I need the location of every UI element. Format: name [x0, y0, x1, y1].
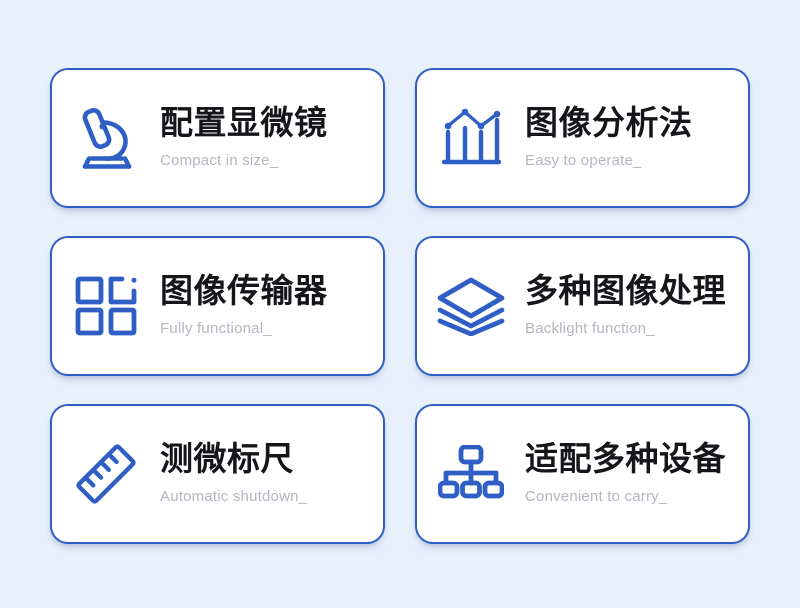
feature-card-grid: 配置显微镜 Compact in size_ 图像分析法 Easy to ope…: [50, 68, 750, 544]
feature-card-microscope[interactable]: 配置显微镜 Compact in size_: [50, 68, 385, 208]
card-subtitle: Easy to operate_: [525, 152, 693, 169]
ruler-icon: [52, 440, 160, 508]
card-title: 多种图像处理: [525, 275, 726, 311]
feature-card-image-analysis[interactable]: 图像分析法 Easy to operate_: [415, 68, 750, 208]
card-text: 图像传输器 Fully functional_: [160, 275, 338, 337]
card-title: 图像分析法: [525, 107, 693, 143]
card-title: 图像传输器: [160, 275, 328, 311]
card-text: 适配多种设备 Convenient to carry_: [525, 443, 736, 505]
bar-chart-icon: [417, 106, 525, 170]
card-subtitle: Convenient to carry_: [525, 488, 726, 505]
card-text: 多种图像处理 Backlight function_: [525, 275, 736, 337]
card-text: 配置显微镜 Compact in size_: [160, 107, 338, 169]
sitemap-icon: [417, 445, 525, 503]
card-title: 适配多种设备: [525, 443, 726, 479]
grid-squares-icon: [52, 275, 160, 337]
feature-card-image-transfer[interactable]: 图像传输器 Fully functional_: [50, 236, 385, 376]
feature-card-device-compatibility[interactable]: 适配多种设备 Convenient to carry_: [415, 404, 750, 544]
layers-icon: [417, 276, 525, 336]
card-text: 图像分析法 Easy to operate_: [525, 107, 703, 169]
card-text: 测微标尺 Automatic shutdown_: [160, 443, 317, 505]
card-subtitle: Automatic shutdown_: [160, 488, 307, 505]
feature-card-micrometer-scale[interactable]: 测微标尺 Automatic shutdown_: [50, 404, 385, 544]
feature-card-image-processing[interactable]: 多种图像处理 Backlight function_: [415, 236, 750, 376]
card-subtitle: Compact in size_: [160, 152, 328, 169]
microscope-icon: [52, 104, 160, 172]
card-title: 配置显微镜: [160, 107, 328, 143]
card-subtitle: Fully functional_: [160, 320, 328, 337]
card-title: 测微标尺: [160, 443, 307, 479]
card-subtitle: Backlight function_: [525, 320, 726, 337]
